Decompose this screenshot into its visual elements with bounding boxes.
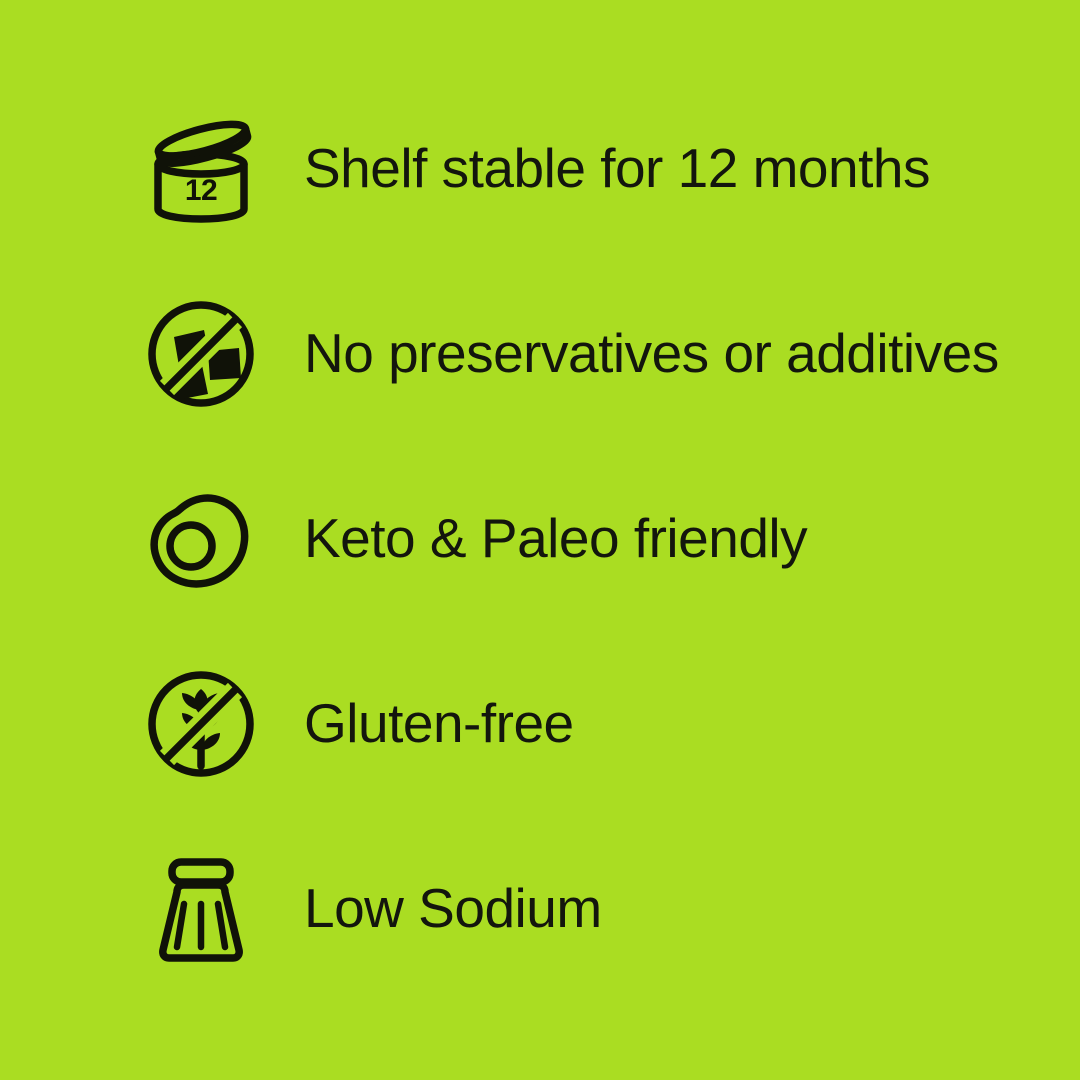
avocado-icon (146, 474, 258, 604)
feature-label-no-preservatives: No preservatives or additives (304, 325, 999, 383)
feature-label-low-sodium: Low Sodium (304, 880, 602, 938)
list-item: 12 Shelf stable for 12 months (146, 104, 1046, 234)
open-can-12-months-icon: 12 (146, 104, 258, 234)
list-item: Keto & Paleo friendly (146, 474, 1046, 604)
product-benefits-panel: 12 Shelf stable for 12 months No preserv… (0, 0, 1080, 1080)
feature-label-keto-paleo: Keto & Paleo friendly (304, 510, 807, 568)
list-item: No preservatives or additives (146, 289, 1046, 419)
salt-shaker-icon (146, 844, 258, 974)
list-item: Low Sodium (146, 844, 1046, 974)
gluten-free-wheat-icon (146, 659, 258, 789)
feature-list: 12 Shelf stable for 12 months No preserv… (0, 0, 1080, 1080)
no-preservatives-icon (146, 289, 258, 419)
list-item: Gluten-free (146, 659, 1046, 789)
feature-label-shelf-stable: Shelf stable for 12 months (304, 140, 930, 198)
can-month-count: 12 (185, 174, 217, 207)
feature-label-gluten-free: Gluten-free (304, 695, 574, 753)
